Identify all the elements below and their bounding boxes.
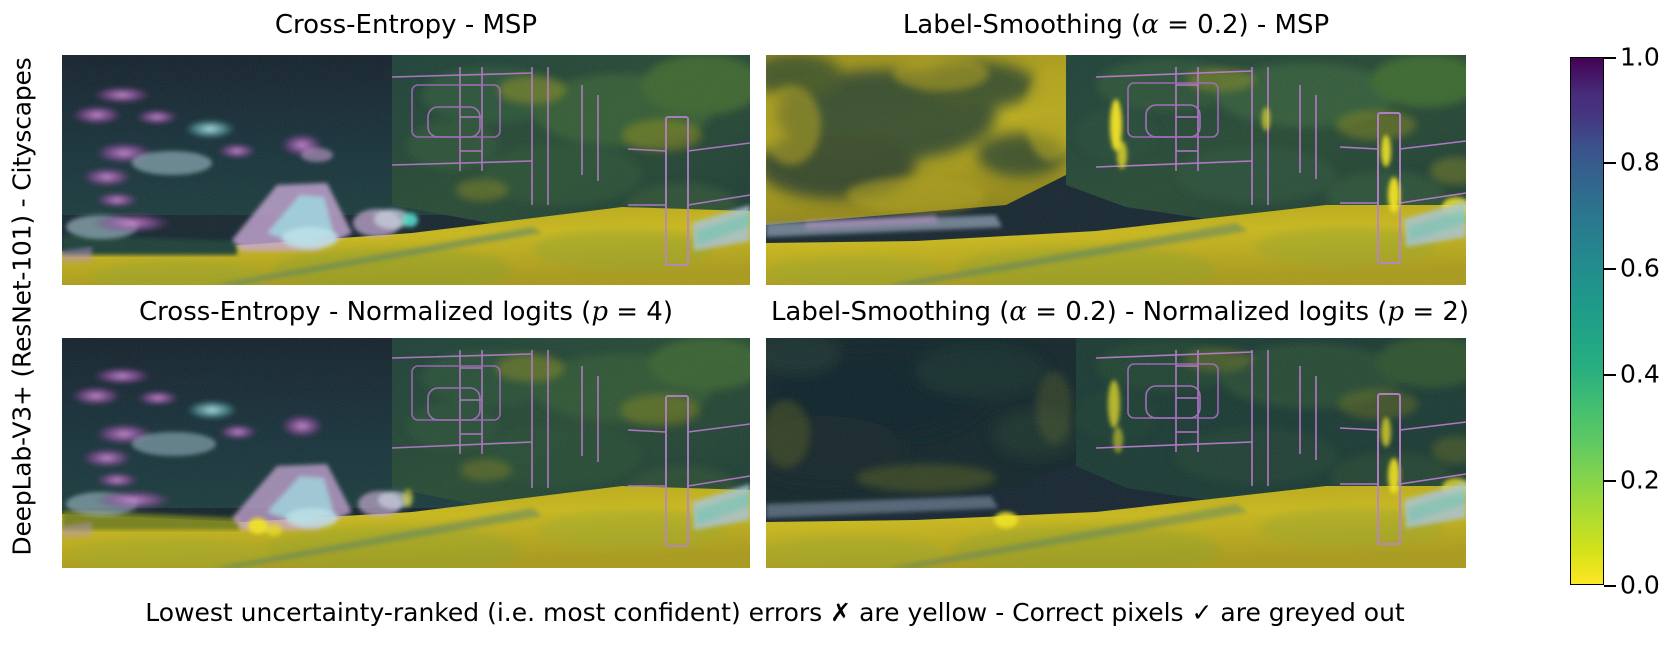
p-symbol-2: p [1387, 297, 1404, 327]
colorbar-label-0.2: 0.2 [1620, 466, 1660, 495]
heatmap-panel-ls-msp [766, 55, 1466, 285]
panel-title-ce-normlogits: Cross-Entropy - Normalized logits (p = 4… [62, 299, 750, 325]
caption-text-part3: are greyed out [1220, 598, 1404, 627]
colorbar-label-0.6: 0.6 [1620, 254, 1660, 283]
heatmap-panel-ce-msp [62, 55, 750, 285]
colorbar-label-1.0: 1.0 [1620, 43, 1660, 72]
colorbar-tick-0.0 [1604, 585, 1616, 587]
colorbar-tick-0.2 [1604, 480, 1616, 482]
colorbar-label-0.4: 0.4 [1620, 360, 1660, 389]
heatmap-panel-ce-normlogits [62, 338, 750, 568]
caption-text-part2: are yellow - Correct pixels [859, 598, 1184, 627]
correct-check-icon: ✓ [1192, 598, 1213, 627]
alpha-symbol: α [1141, 10, 1159, 40]
colorbar-tick-1.0 [1604, 57, 1616, 59]
colorbar-label-0.0: 0.0 [1620, 571, 1660, 600]
panel-title-ls-msp: Label-Smoothing (α = 0.2) - MSP [766, 12, 1466, 38]
colorbar-tick-0.8 [1604, 162, 1616, 164]
caption-text-part1: Lowest uncertainty-ranked (i.e. most con… [145, 598, 822, 627]
colorbar-label-0.8: 0.8 [1620, 148, 1660, 177]
colorbar-gradient [1571, 58, 1603, 584]
alpha-symbol-2: α [1009, 297, 1027, 327]
panel-title-ls-normlogits: Label-Smoothing (α = 0.2) - Normalized l… [740, 299, 1500, 325]
panel-title-ce-msp: Cross-Entropy - MSP [62, 12, 750, 38]
row-axis-label: DeepLab-V3+ (ResNet-101) - Cityscapes [8, 27, 37, 587]
error-cross-icon: ✗ [830, 598, 851, 627]
colorbar-tick-0.4 [1604, 374, 1616, 376]
p-symbol: p [591, 297, 608, 327]
heatmap-panel-ls-normlogits [766, 338, 1466, 568]
colorbar [1570, 57, 1604, 585]
figure-caption: Lowest uncertainty-ranked (i.e. most con… [0, 598, 1550, 627]
figure-root: DeepLab-V3+ (ResNet-101) - Cityscapes Cr… [0, 0, 1660, 670]
colorbar-tick-0.6 [1604, 268, 1616, 270]
